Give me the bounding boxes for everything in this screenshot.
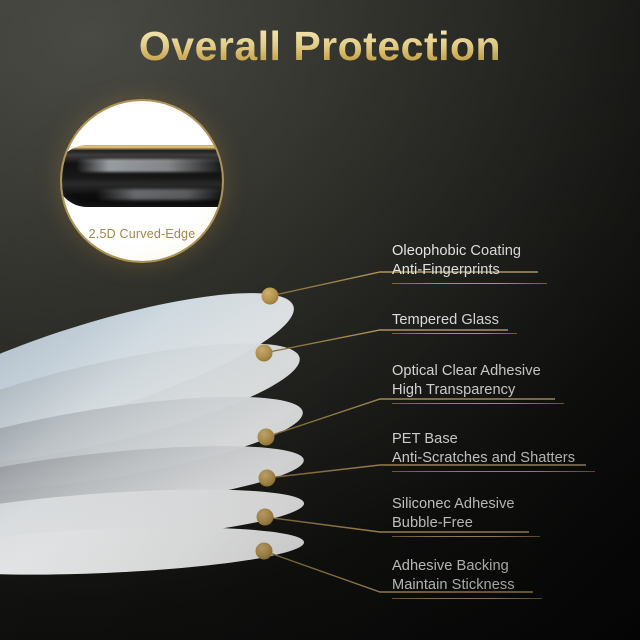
connector-dot-5 [257, 509, 274, 526]
callout-underline [392, 403, 564, 404]
callout-line-2: Anti-Fingerprints [392, 261, 547, 280]
callout-line-1: Siliconec Adhesive [392, 495, 540, 514]
callout-line-1: PET Base [392, 430, 595, 449]
connector-dot-3 [258, 429, 275, 446]
connector-dot-6 [256, 543, 273, 560]
callout-line-2: Bubble-Free [392, 514, 540, 533]
callout-optical-clear-adhesive: Optical Clear Adhesive High Transparency [392, 362, 564, 404]
callout-line-2: Anti-Scratches and Shatters [392, 449, 595, 468]
callout-line-1: Oleophobic Coating [392, 242, 547, 261]
callout-line-2: High Transparency [392, 381, 564, 400]
inset-caption: 2.5D Curved-Edge [62, 227, 222, 241]
layer-stack-illustration [0, 0, 640, 640]
connector-dot-2 [256, 345, 273, 362]
connector-dot-4 [259, 470, 276, 487]
callout-underline [392, 283, 547, 284]
edge-highlight-lower [96, 189, 222, 200]
edge-highlight-upper [76, 159, 222, 172]
callout-underline [392, 471, 595, 472]
infographic-canvas: Overall Protection 2.5D Curved-Edge Oleo… [0, 0, 640, 640]
callout-oleophobic-coating: Oleophobic Coating Anti-Fingerprints [392, 242, 547, 284]
connector-dot-1 [262, 288, 279, 305]
callout-siliconec-adhesive: Siliconec Adhesive Bubble-Free [392, 495, 540, 537]
callout-tempered-glass: Tempered Glass [392, 311, 517, 334]
curved-edge-inset: 2.5D Curved-Edge [62, 101, 222, 261]
callout-underline [392, 536, 540, 537]
callout-line-2: Maintain Stickness [392, 576, 542, 595]
callout-adhesive-backing: Adhesive Backing Maintain Stickness [392, 557, 542, 599]
callout-underline [392, 598, 542, 599]
callout-underline [392, 333, 517, 334]
callout-line-1: Adhesive Backing [392, 557, 542, 576]
callout-line-1: Tempered Glass [392, 311, 517, 330]
callout-line-1: Optical Clear Adhesive [392, 362, 564, 381]
callout-pet-base: PET Base Anti-Scratches and Shatters [392, 430, 595, 472]
page-title: Overall Protection [0, 24, 640, 69]
